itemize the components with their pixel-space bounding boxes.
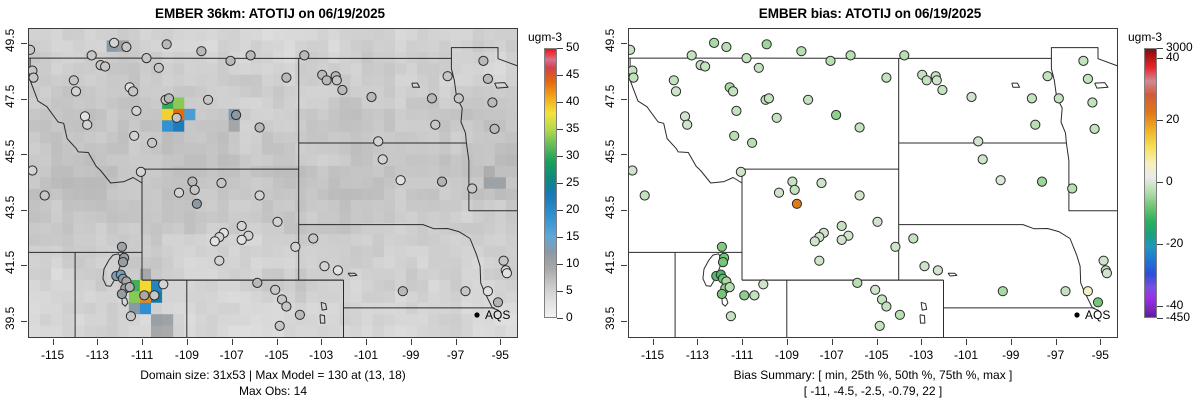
observation-station-marker[interactable] xyxy=(1083,287,1092,296)
colorbar-unit-model: ugm-3 xyxy=(528,30,562,44)
x-axis-tick-label: -113 xyxy=(675,348,719,362)
observation-station-marker[interactable] xyxy=(772,113,781,122)
observation-station-marker[interactable] xyxy=(87,51,96,60)
observation-station-marker[interactable] xyxy=(132,106,141,115)
y-axis-tick-label: 43.5 xyxy=(603,199,617,219)
x-axis-tick-label: -103 xyxy=(299,348,343,362)
colorbar-tick xyxy=(1157,120,1163,121)
observation-station-marker[interactable] xyxy=(797,47,806,56)
caption-model-line1: Domain size: 31x53 | Max Model = 130 at … xyxy=(0,368,546,382)
y-axis-tick-label: 49.5 xyxy=(3,32,17,52)
x-axis-tick xyxy=(97,339,98,345)
observation-station-marker[interactable] xyxy=(427,94,436,103)
panel-title-bias: EMBER bias: ATOTIJ on 06/19/2025 xyxy=(600,6,1140,21)
observation-station-marker[interactable] xyxy=(1027,94,1036,103)
x-axis-tick-label: -105 xyxy=(855,348,899,362)
observation-station-marker[interactable] xyxy=(687,51,696,60)
observation-station-marker[interactable] xyxy=(443,72,452,81)
colorbar-tick-label: 0 xyxy=(1166,174,1173,188)
observation-station-marker[interactable] xyxy=(499,256,508,265)
colorbar-strip-model xyxy=(544,48,557,318)
observation-station-marker[interactable] xyxy=(320,262,329,271)
observation-station-marker[interactable] xyxy=(736,167,745,176)
observation-station-marker[interactable] xyxy=(974,137,983,146)
observation-station-marker[interactable] xyxy=(374,137,383,146)
observation-station-marker[interactable] xyxy=(148,138,157,147)
y-axis-tick xyxy=(621,99,627,100)
x-axis-tick-label: -95 xyxy=(478,348,522,362)
observation-station-marker[interactable] xyxy=(933,266,942,275)
observation-station-marker[interactable] xyxy=(764,94,773,103)
observation-station-marker[interactable] xyxy=(792,199,801,208)
observation-station-marker[interactable] xyxy=(232,110,241,119)
x-axis-tick xyxy=(321,339,322,345)
observation-station-marker[interactable] xyxy=(378,155,387,164)
observation-station-marker[interactable] xyxy=(255,123,264,132)
map-plot-bias[interactable]: AQS xyxy=(628,28,1118,338)
observation-station-marker[interactable] xyxy=(437,177,446,186)
x-axis-tick-label: -107 xyxy=(210,348,254,362)
observation-station-marker[interactable] xyxy=(282,73,291,82)
observation-station-marker[interactable] xyxy=(871,285,880,294)
colorbar-tick-label: 40 xyxy=(566,94,579,108)
ember-comparison-figure: EMBER 36km: ATOTIJ on 06/19/2025 AQS -11… xyxy=(0,0,1200,409)
observation-station-marker[interactable] xyxy=(640,191,649,200)
observation-station-marker[interactable] xyxy=(333,266,342,275)
x-axis-tick-label: -99 xyxy=(989,348,1033,362)
observation-station-marker[interactable] xyxy=(853,278,862,287)
observation-station-marker[interactable] xyxy=(730,131,739,140)
colorbar-tick-label: 20 xyxy=(566,202,579,216)
observation-station-marker[interactable] xyxy=(454,94,463,103)
colorbar-tick xyxy=(557,237,563,238)
observation-station-marker[interactable] xyxy=(671,87,680,96)
aqs-legend-dot xyxy=(1074,312,1079,317)
observation-station-marker[interactable] xyxy=(909,234,918,243)
observation-station-marker[interactable] xyxy=(710,38,719,47)
y-axis-tick xyxy=(621,210,627,211)
colorbar-tick-label: 15 xyxy=(566,229,579,243)
x-axis-tick-label: -115 xyxy=(31,348,75,362)
observation-station-marker[interactable] xyxy=(110,38,119,47)
aqs-legend-label: AQS xyxy=(485,308,510,322)
x-axis-tick-label: -97 xyxy=(1034,348,1078,362)
observation-station-marker[interactable] xyxy=(1037,177,1046,186)
observation-station-marker[interactable] xyxy=(1068,184,1077,193)
observation-station-marker[interactable] xyxy=(122,42,131,51)
x-axis-tick xyxy=(411,339,412,345)
x-axis-tick xyxy=(966,339,967,345)
x-axis-tick xyxy=(53,339,54,345)
observation-station-marker[interactable] xyxy=(300,51,309,60)
x-axis-tick-label: -105 xyxy=(255,348,299,362)
observation-station-marker[interactable] xyxy=(810,237,819,246)
observation-station-marker[interactable] xyxy=(190,185,199,194)
observation-station-marker[interactable] xyxy=(826,56,835,65)
x-axis-tick-label: -95 xyxy=(1078,348,1122,362)
x-axis-tick xyxy=(277,339,278,345)
observation-station-marker[interactable] xyxy=(291,242,300,251)
x-axis-tick xyxy=(1100,339,1101,345)
observation-station-marker[interactable] xyxy=(938,85,947,94)
colorbar-tick xyxy=(1157,306,1163,307)
observation-station-marker[interactable] xyxy=(1093,298,1102,307)
observation-station-marker[interactable] xyxy=(80,112,89,121)
observation-station-marker[interactable] xyxy=(338,85,347,94)
observation-station-marker[interactable] xyxy=(790,185,799,194)
x-axis-tick xyxy=(697,339,698,345)
observation-station-marker[interactable] xyxy=(142,54,151,63)
observation-station-marker[interactable] xyxy=(922,76,931,85)
observation-station-marker[interactable] xyxy=(725,283,734,292)
observation-station-marker[interactable] xyxy=(998,287,1007,296)
colorbar-tick-label: 20 xyxy=(1166,112,1179,126)
colorbar-tick-label: 0 xyxy=(566,310,573,324)
observation-station-marker[interactable] xyxy=(750,291,759,300)
observation-station-marker[interactable] xyxy=(722,42,731,51)
observation-station-marker[interactable] xyxy=(1088,98,1097,107)
observation-station-marker[interactable] xyxy=(873,217,882,226)
observation-station-marker[interactable] xyxy=(253,278,262,287)
observation-station-marker[interactable] xyxy=(204,95,213,104)
colorbar-tick xyxy=(1157,48,1163,49)
observation-station-marker[interactable] xyxy=(210,237,219,246)
observation-station-marker[interactable] xyxy=(502,269,511,278)
observation-station-marker[interactable] xyxy=(215,256,224,265)
observation-station-marker[interactable] xyxy=(629,73,638,82)
observation-station-marker[interactable] xyxy=(629,45,635,54)
caption-bias-line1: Bias Summary: [ min, 25th %, 50th %, 75t… xyxy=(600,368,1146,382)
observation-station-marker[interactable] xyxy=(125,283,134,292)
x-axis-tick-label: -101 xyxy=(944,348,988,362)
map-plot-model[interactable]: AQS xyxy=(28,28,518,338)
observation-station-marker[interactable] xyxy=(788,177,797,186)
observation-station-marker[interactable] xyxy=(188,177,197,186)
observation-station-marker[interactable] xyxy=(683,120,692,129)
colorbar-tick-label: 30 xyxy=(566,148,579,162)
y-axis-tick-label: 47.5 xyxy=(3,88,17,108)
caption-bias-line2: [ -11, -4.5, -2.5, -0.79, 22 ] xyxy=(600,384,1146,398)
x-axis-tick xyxy=(832,339,833,345)
observation-station-marker[interactable] xyxy=(493,298,502,307)
x-axis-tick xyxy=(877,339,878,345)
observation-station-marker[interactable] xyxy=(69,76,78,85)
colorbar-tick-label: 5 xyxy=(566,283,573,297)
y-axis-tick xyxy=(621,154,627,155)
observation-station-marker[interactable] xyxy=(882,73,891,82)
observation-station-marker[interactable] xyxy=(742,54,751,63)
observation-station-marker[interactable] xyxy=(490,124,499,133)
y-axis-tick xyxy=(21,321,27,322)
observation-station-marker[interactable] xyxy=(226,56,235,65)
observation-station-marker[interactable] xyxy=(629,166,637,175)
observation-station-marker[interactable] xyxy=(855,191,864,200)
observation-station-marker[interactable] xyxy=(900,51,909,60)
x-axis-tick-label: -101 xyxy=(344,348,388,362)
observation-station-marker[interactable] xyxy=(837,235,846,244)
x-axis-tick xyxy=(1056,339,1057,345)
observation-station-marker[interactable] xyxy=(804,95,813,104)
colorbar-tick xyxy=(557,129,563,130)
x-axis-tick-label: -97 xyxy=(434,348,478,362)
observation-station-marker[interactable] xyxy=(732,106,741,115)
colorbar-tick xyxy=(557,156,563,157)
observation-station-marker[interactable] xyxy=(150,291,159,300)
observation-station-marker[interactable] xyxy=(117,289,126,298)
observation-station-marker[interactable] xyxy=(895,310,904,319)
observation-station-marker[interactable] xyxy=(118,258,127,267)
x-axis-tick xyxy=(187,339,188,345)
observation-station-marker[interactable] xyxy=(101,62,110,71)
y-axis-tick-label: 47.5 xyxy=(603,88,617,108)
observation-station-marker[interactable] xyxy=(71,87,80,96)
x-axis-tick-label: -107 xyxy=(810,348,854,362)
observation-station-marker[interactable] xyxy=(920,262,929,271)
observation-station-marker[interactable] xyxy=(154,63,163,72)
observation-station-marker[interactable] xyxy=(117,242,126,251)
caption-model-line2: Max Obs: 14 xyxy=(0,384,546,398)
observation-station-marker[interactable] xyxy=(40,191,49,200)
observation-station-marker[interactable] xyxy=(136,167,145,176)
observation-station-marker[interactable] xyxy=(726,312,735,321)
observation-station-marker[interactable] xyxy=(197,47,206,56)
observation-station-marker[interactable] xyxy=(309,234,318,243)
x-axis-tick-label: -99 xyxy=(389,348,433,362)
y-axis-tick-label: 39.5 xyxy=(603,310,617,330)
observation-station-marker[interactable] xyxy=(246,51,255,60)
x-axis-tick xyxy=(921,339,922,345)
colorbar-tick-label: -450 xyxy=(1166,310,1190,324)
x-axis-tick-label: -111 xyxy=(720,348,764,362)
observation-station-marker[interactable] xyxy=(332,76,341,85)
y-axis-tick-label: 41.5 xyxy=(3,254,17,274)
observation-station-marker[interactable] xyxy=(1043,72,1052,81)
observation-station-marker[interactable] xyxy=(717,242,726,251)
y-axis-tick xyxy=(621,43,627,44)
observation-station-marker[interactable] xyxy=(891,242,900,251)
observation-station-marker[interactable] xyxy=(461,287,470,296)
observation-station-marker[interactable] xyxy=(1102,269,1111,278)
colorbar-tick-label: 10 xyxy=(566,256,579,270)
observation-station-marker[interactable] xyxy=(748,138,757,147)
colorbar-tick xyxy=(557,48,563,49)
x-axis-tick xyxy=(500,339,501,345)
observation-station-marker[interactable] xyxy=(1061,287,1070,296)
x-axis-tick-label: -109 xyxy=(165,348,209,362)
x-axis-tick-label: -103 xyxy=(899,348,943,362)
colorbar-tick-label: 25 xyxy=(566,175,579,189)
observation-station-marker[interactable] xyxy=(237,221,246,230)
y-axis-tick xyxy=(21,43,27,44)
observation-station-marker[interactable] xyxy=(483,287,492,296)
observation-station-marker[interactable] xyxy=(717,289,726,298)
observation-station-marker[interactable] xyxy=(1099,256,1108,265)
colorbar-tick xyxy=(1157,318,1163,319)
x-axis-tick-label: -109 xyxy=(765,348,809,362)
observation-station-marker[interactable] xyxy=(855,123,864,132)
observation-station-marker[interactable] xyxy=(932,76,941,85)
observation-station-marker[interactable] xyxy=(396,176,405,185)
observation-station-marker[interactable] xyxy=(322,76,331,85)
y-axis-tick xyxy=(21,99,27,100)
y-axis-tick xyxy=(621,321,627,322)
panel-bias: EMBER bias: ATOTIJ on 06/19/2025 AQS -11… xyxy=(600,0,1200,409)
colorbar-tick-label: -20 xyxy=(1166,236,1183,250)
observation-station-marker[interactable] xyxy=(83,120,92,129)
y-axis-tick-label: 45.5 xyxy=(603,143,617,163)
observation-station-marker[interactable] xyxy=(488,98,497,107)
observation-station-marker[interactable] xyxy=(29,166,37,175)
x-axis-tick-label: -111 xyxy=(120,348,164,362)
colorbar-tick xyxy=(557,75,563,76)
colorbar-tick xyxy=(1157,58,1163,59)
x-axis-tick-label: -113 xyxy=(75,348,119,362)
y-axis-tick-label: 43.5 xyxy=(3,199,17,219)
y-axis-tick-label: 45.5 xyxy=(3,143,17,163)
observation-station-marker[interactable] xyxy=(129,87,138,96)
y-axis-tick-label: 39.5 xyxy=(3,310,17,330)
observation-station-marker[interactable] xyxy=(967,92,976,101)
observation-station-marker[interactable] xyxy=(159,280,168,289)
x-axis-tick xyxy=(456,339,457,345)
x-axis-tick xyxy=(1011,339,1012,345)
observation-station-marker[interactable] xyxy=(1054,94,1063,103)
observation-station-marker[interactable] xyxy=(162,40,171,49)
observation-station-marker[interactable] xyxy=(468,184,477,193)
colorbar-unit-bias: ugm-3 xyxy=(1128,30,1162,44)
observation-station-marker[interactable] xyxy=(762,40,771,49)
observation-station-marker[interactable] xyxy=(29,45,35,54)
colorbar-strip-bias xyxy=(1144,48,1157,318)
observation-station-marker[interactable] xyxy=(130,131,139,140)
x-axis-tick xyxy=(787,339,788,345)
colorbar-tick-label: 45 xyxy=(566,67,579,81)
observation-station-marker[interactable] xyxy=(837,221,846,230)
colorbar-tick xyxy=(557,210,563,211)
colorbar-tick xyxy=(557,102,563,103)
observation-station-marker[interactable] xyxy=(669,76,678,85)
observation-station-marker[interactable] xyxy=(978,155,987,164)
observation-station-marker[interactable] xyxy=(759,280,768,289)
observation-station-marker[interactable] xyxy=(192,199,201,208)
observation-station-marker[interactable] xyxy=(754,63,763,72)
colorbar-tick-label: 35 xyxy=(566,121,579,135)
observation-station-marker[interactable] xyxy=(275,321,284,330)
panel-model: EMBER 36km: ATOTIJ on 06/19/2025 AQS -11… xyxy=(0,0,600,409)
aqs-legend-label: AQS xyxy=(1085,308,1110,322)
observation-station-marker[interactable] xyxy=(774,188,783,197)
observation-station-marker[interactable] xyxy=(832,110,841,119)
observation-station-marker[interactable] xyxy=(271,285,280,294)
observation-station-marker[interactable] xyxy=(483,74,492,83)
observation-stations-model[interactable]: AQS xyxy=(29,29,517,337)
observation-station-marker[interactable] xyxy=(846,51,855,60)
colorbar-tick xyxy=(557,291,563,292)
observation-station-marker[interactable] xyxy=(875,321,884,330)
y-axis-tick xyxy=(21,210,27,211)
x-axis-tick xyxy=(142,339,143,345)
observation-station-marker[interactable] xyxy=(1079,56,1088,65)
y-axis-tick xyxy=(21,265,27,266)
observation-station-marker[interactable] xyxy=(479,56,488,65)
colorbar-tick xyxy=(557,183,563,184)
observation-station-marker[interactable] xyxy=(174,188,183,197)
observation-station-marker[interactable] xyxy=(282,302,291,311)
observation-station-marker[interactable] xyxy=(367,92,376,101)
x-axis-tick xyxy=(742,339,743,345)
observation-station-marker[interactable] xyxy=(882,302,891,311)
observation-station-marker[interactable] xyxy=(217,178,226,187)
observation-station-marker[interactable] xyxy=(701,62,710,71)
observation-station-marker[interactable] xyxy=(1090,124,1099,133)
observation-station-marker[interactable] xyxy=(817,178,826,187)
x-axis-tick-label: -115 xyxy=(631,348,675,362)
observation-station-marker[interactable] xyxy=(996,176,1005,185)
colorbar-tick xyxy=(557,318,563,319)
observation-station-marker[interactable] xyxy=(431,120,440,129)
colorbar-tick xyxy=(557,264,563,265)
observation-station-marker[interactable] xyxy=(172,113,181,122)
x-axis-tick xyxy=(653,339,654,345)
colorbar-tick-label: 50 xyxy=(566,40,579,54)
observation-station-marker[interactable] xyxy=(126,312,135,321)
colorbar-tick xyxy=(1157,244,1163,245)
observation-station-marker[interactable] xyxy=(1083,74,1092,83)
observation-station-marker[interactable] xyxy=(140,291,149,300)
x-axis-tick xyxy=(366,339,367,345)
observation-station-marker[interactable] xyxy=(718,258,727,267)
observation-station-marker[interactable] xyxy=(729,87,738,96)
observation-station-marker[interactable] xyxy=(29,73,38,82)
observation-station-marker[interactable] xyxy=(398,287,407,296)
y-axis-tick-label: 49.5 xyxy=(603,32,617,52)
observation-station-marker[interactable] xyxy=(237,235,246,244)
panel-title-model: EMBER 36km: ATOTIJ on 06/19/2025 xyxy=(0,6,540,21)
y-axis-tick xyxy=(21,154,27,155)
y-axis-tick-label: 41.5 xyxy=(603,254,617,274)
y-axis-tick xyxy=(621,265,627,266)
aqs-legend-dot xyxy=(474,312,479,317)
observation-stations-bias[interactable]: AQS xyxy=(629,29,1117,337)
observation-station-marker[interactable] xyxy=(740,291,749,300)
observation-station-marker[interactable] xyxy=(680,112,689,121)
observation-station-marker[interactable] xyxy=(164,94,173,103)
observation-station-marker[interactable] xyxy=(1031,120,1040,129)
observation-station-marker[interactable] xyxy=(295,310,304,319)
observation-station-marker[interactable] xyxy=(815,256,824,265)
observation-station-marker[interactable] xyxy=(255,191,264,200)
x-axis-tick xyxy=(232,339,233,345)
colorbar-tick xyxy=(1157,182,1163,183)
colorbar-tick-label: 40 xyxy=(1166,50,1179,64)
observation-station-marker[interactable] xyxy=(273,217,282,226)
